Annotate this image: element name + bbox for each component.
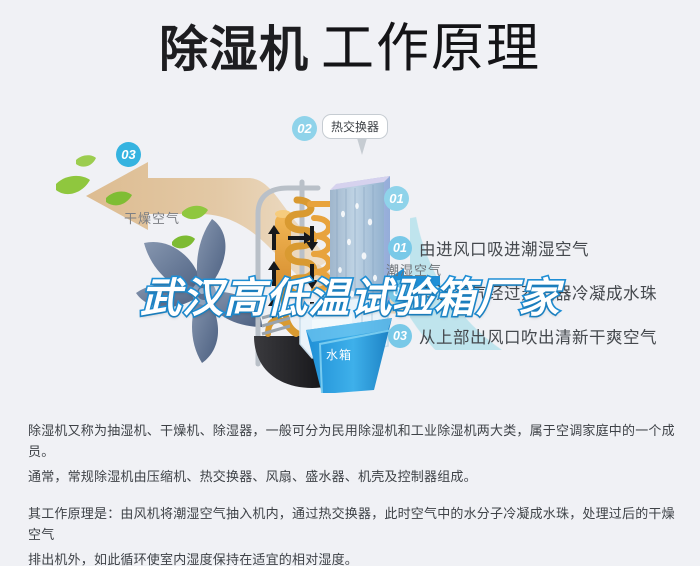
badge-03-dry-air: 03	[116, 142, 141, 167]
dehumidifier-diagram: 03 干燥空气 02 热交换器 01 潮湿空气 水箱 01 由进风口吸进潮湿空气…	[0, 118, 700, 393]
step-item: 01 由进风口吸进潮湿空气	[388, 236, 657, 260]
label-water-tank: 水箱	[326, 346, 352, 363]
step-item: 03 从上部出风口吹出清新干爽空气	[388, 324, 657, 348]
step-text: 由进风口吸进潮湿空气	[419, 236, 589, 260]
label-dry-air: 干燥空气	[124, 208, 180, 227]
badge-01-moist-air: 01	[384, 186, 409, 211]
step-number: 01	[388, 236, 412, 260]
page-title-part1: 除湿机	[159, 23, 309, 77]
body-paragraph-3: 其工作原理是：由风机将潮湿空气抽入机内，通过热交换器，此时空气中的水分子冷凝成水…	[28, 503, 676, 545]
body-paragraph-4: 排出机外，如此循环使室内湿度保持在适宜的相对湿度。	[28, 549, 676, 566]
infographic-page: 除湿机工作原理	[0, 0, 700, 566]
body-paragraph-1: 除湿机又称为抽湿机、干燥机、除湿器，一般可分为民用除湿机和工业除湿机两大类，属于…	[28, 420, 676, 462]
page-title: 除湿机工作原理	[0, 22, 700, 75]
watermark-text: 武汉高低温试验箱厂家	[0, 264, 700, 324]
body-paragraph-2: 通常，常规除湿机由压缩机、热交换器、风扇、盛水器、机壳及控制器组成。	[28, 466, 676, 487]
page-title-part2: 工作原理	[321, 19, 541, 78]
step-number: 03	[388, 324, 412, 348]
callout-heat-exchanger: 热交换器	[322, 114, 388, 139]
step-text: 从上部出风口吹出清新干爽空气	[419, 324, 657, 348]
badge-02-heat-exchanger: 02	[292, 116, 317, 141]
body-copy: 除湿机又称为抽湿机、干燥机、除湿器，一般可分为民用除湿机和工业除湿机两大类，属于…	[28, 420, 676, 566]
